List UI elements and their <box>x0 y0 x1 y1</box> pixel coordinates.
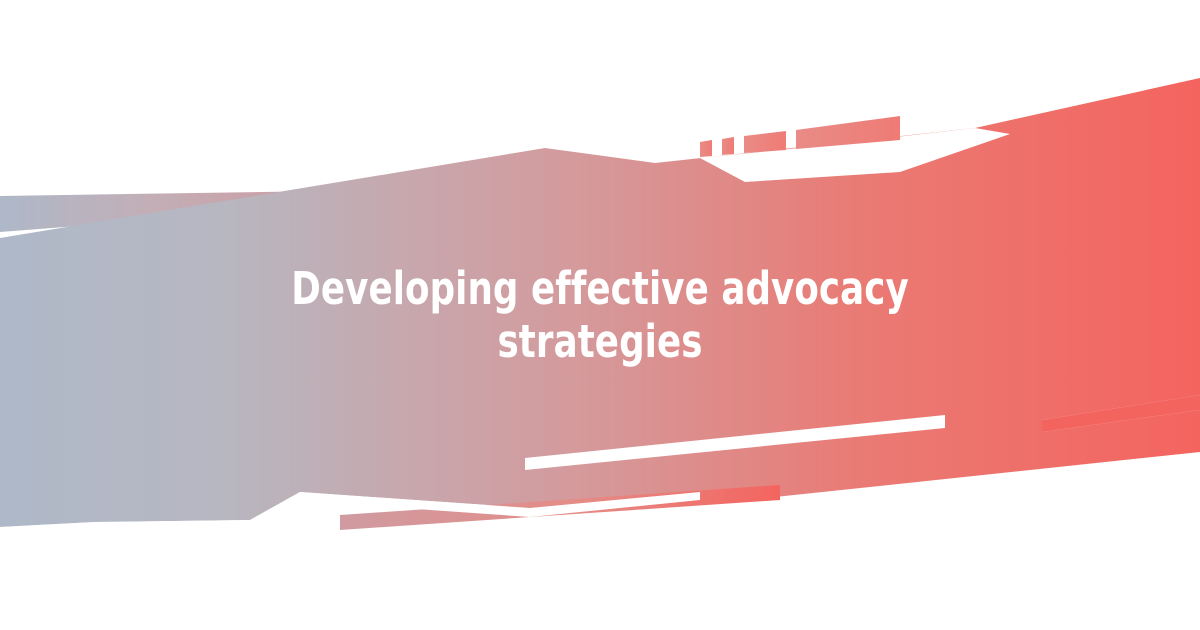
banner-graphic <box>0 0 1200 630</box>
banner-card: Developing effective advocacy strategies <box>0 0 1200 630</box>
